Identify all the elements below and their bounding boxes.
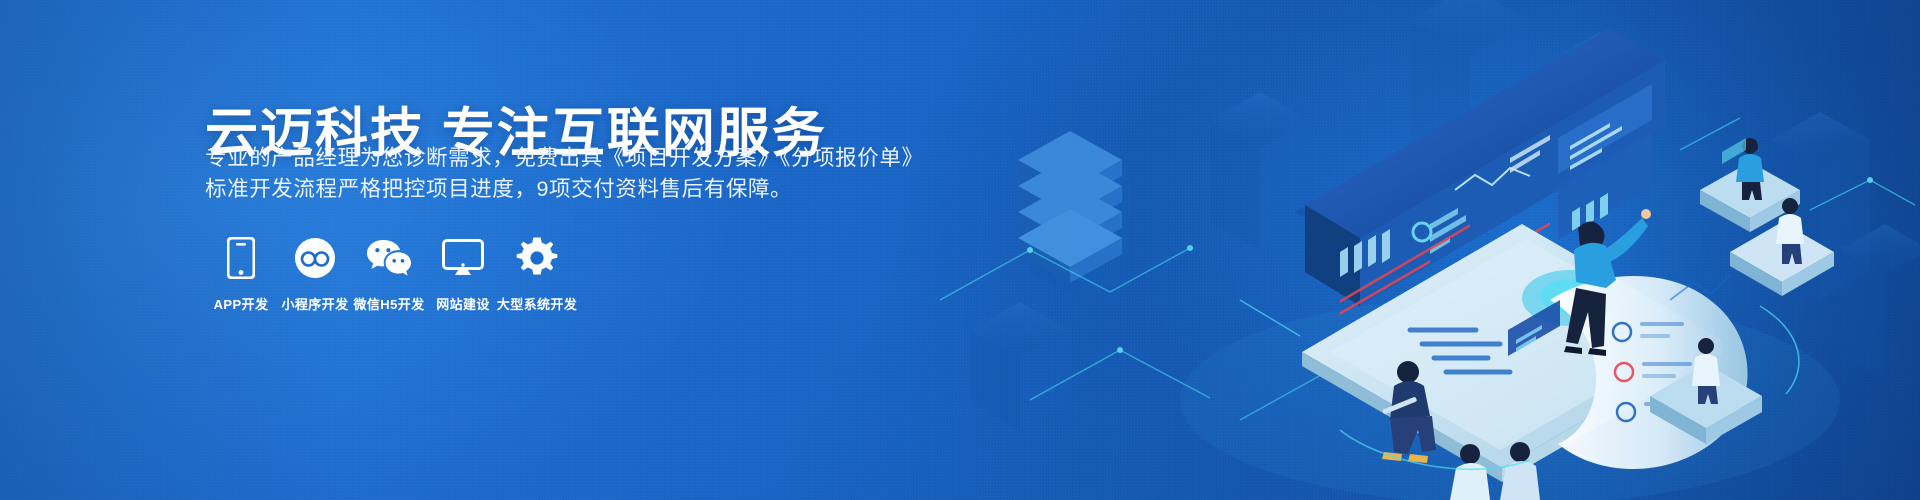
- server-stack: [1018, 131, 1122, 283]
- subtitle-line-2: 标准开发流程严格把控项目进度，9项交付资料售后有保障。: [205, 174, 924, 205]
- hero-banner: 云迈科技 专注互联网服务 专业的产品经理为您诊断需求，免费出具《项目开发方案》《…: [0, 0, 1920, 500]
- service-item-website[interactable]: 网站建设: [427, 232, 499, 313]
- mini-program-icon: [294, 232, 336, 284]
- mobile-phone-icon: [227, 232, 255, 284]
- service-label: 大型系统开发: [497, 294, 577, 313]
- service-label: 网站建设: [436, 294, 490, 313]
- content-column: 云迈科技 专注互联网服务 专业的产品经理为您诊断需求，免费出具《项目开发方案》《…: [0, 0, 960, 500]
- monitor-icon: [442, 232, 484, 284]
- service-label: 微信H5开发: [353, 294, 424, 313]
- service-item-app[interactable]: APP开发: [205, 232, 277, 313]
- service-label: 小程序开发: [281, 294, 348, 313]
- service-label: APP开发: [214, 294, 269, 313]
- service-list: APP开发 小程序开发: [205, 232, 573, 313]
- wechat-icon: [366, 232, 412, 284]
- service-item-wechat-h5[interactable]: 微信H5开发: [353, 232, 425, 313]
- service-item-mini-program[interactable]: 小程序开发: [279, 232, 351, 313]
- subtitle-line-1: 专业的产品经理为您诊断需求，免费出具《项目开发方案》《分项报价单》: [205, 143, 924, 174]
- gear-icon: [516, 232, 558, 284]
- subtitle: 专业的产品经理为您诊断需求，免费出具《项目开发方案》《分项报价单》 标准开发流程…: [205, 143, 924, 205]
- illustration: [910, 0, 1920, 500]
- service-item-large-system[interactable]: 大型系统开发: [501, 232, 573, 313]
